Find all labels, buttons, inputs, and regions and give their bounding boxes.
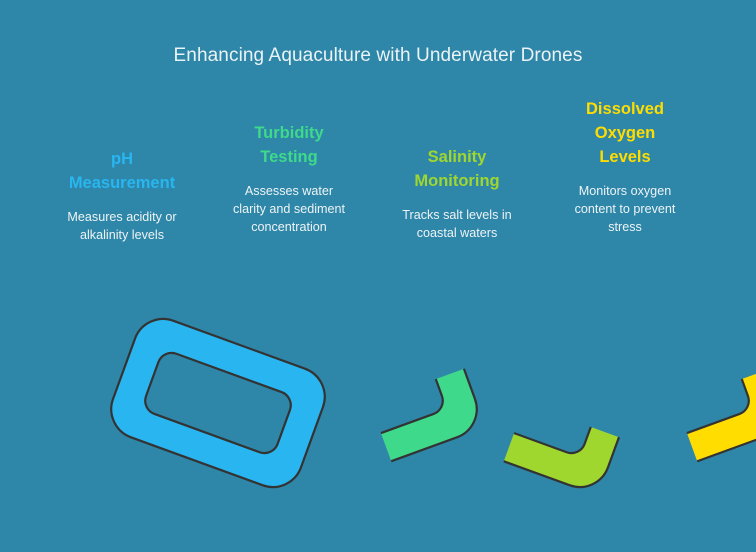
feature-body-salinity: Tracks salt levels in coastal waters <box>372 207 542 243</box>
feature-body-turbidity: Assesses water clarity and sediment conc… <box>206 183 372 237</box>
feature-heading-salinity-line2: Monitoring <box>372 170 542 194</box>
feature-heading-dissolved-oxygen: Dissolved Oxygen Levels <box>540 98 710 170</box>
feature-body-turbidity-line1: Assesses water <box>206 183 372 201</box>
feature-body-ph-line1: Measures acidity or <box>32 209 212 227</box>
feature-column-salinity: Salinity Monitoring Tracks salt levels i… <box>372 146 542 243</box>
feature-columns: pH Measurement Measures acidity or alkal… <box>0 88 756 268</box>
feature-body-salinity-line1: Tracks salt levels in <box>372 207 542 225</box>
feature-body-ph-line2: alkalinity levels <box>32 227 212 245</box>
feature-body-salinity-line2: coastal waters <box>372 225 542 243</box>
feature-heading-dissolved-oxygen-line3: Levels <box>540 146 710 170</box>
feature-column-turbidity: Turbidity Testing Assesses water clarity… <box>206 122 372 236</box>
feature-heading-ph-line2: Measurement <box>32 172 212 196</box>
feature-body-dissolved-oxygen-line1: Monitors oxygen <box>540 183 710 201</box>
feature-heading-turbidity-line2: Testing <box>206 146 372 170</box>
feature-column-dissolved-oxygen: Dissolved Oxygen Levels Monitors oxygen … <box>540 98 710 236</box>
feature-body-turbidity-line3: concentration <box>206 219 372 237</box>
page-title: Enhancing Aquaculture with Underwater Dr… <box>0 45 756 67</box>
feature-heading-salinity-line1: Salinity <box>372 146 542 170</box>
feature-heading-ph: pH Measurement <box>32 148 212 196</box>
feature-body-dissolved-oxygen: Monitors oxygen content to prevent stres… <box>540 183 710 237</box>
feature-heading-dissolved-oxygen-line2: Oxygen <box>540 122 710 146</box>
feature-body-dissolved-oxygen-line2: content to prevent <box>540 201 710 219</box>
feature-body-turbidity-line2: clarity and sediment <box>206 201 372 219</box>
feature-heading-salinity: Salinity Monitoring <box>372 146 542 194</box>
feature-body-dissolved-oxygen-line3: stress <box>540 219 710 237</box>
feature-heading-dissolved-oxygen-line1: Dissolved <box>540 98 710 122</box>
feature-heading-ph-line1: pH <box>32 148 212 172</box>
feature-heading-turbidity-line1: Turbidity <box>206 122 372 146</box>
infographic-canvas: Enhancing Aquaculture with Underwater Dr… <box>0 0 756 552</box>
feature-body-ph: Measures acidity or alkalinity levels <box>32 209 212 245</box>
feature-heading-turbidity: Turbidity Testing <box>206 122 372 170</box>
feature-column-ph: pH Measurement Measures acidity or alkal… <box>32 148 212 245</box>
chain-links-illustration <box>0 268 756 552</box>
